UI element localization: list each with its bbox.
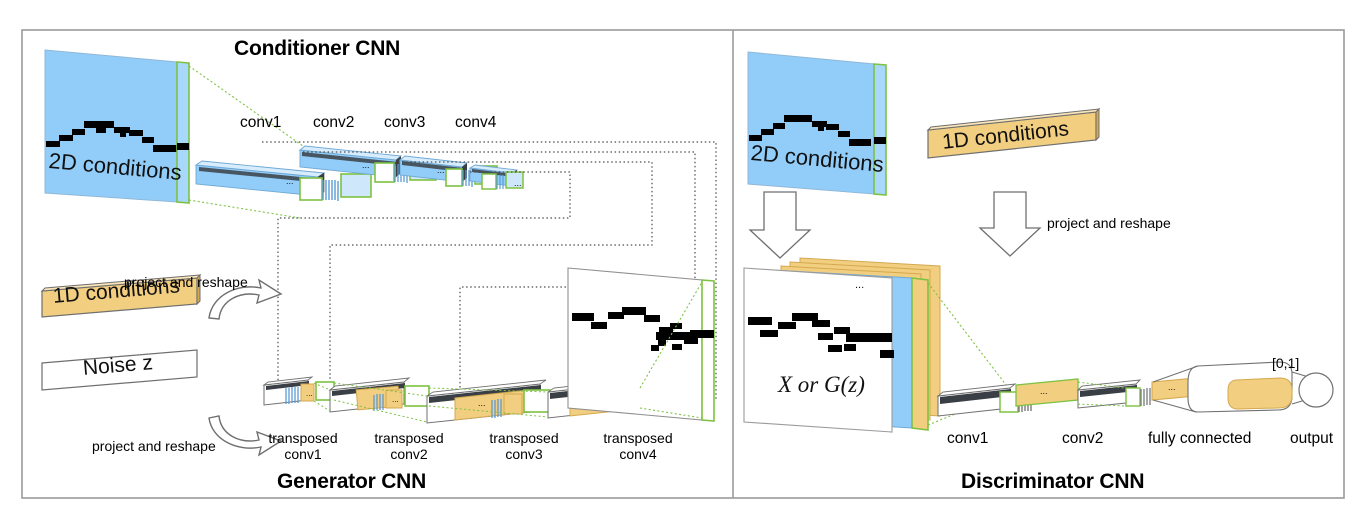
conditioner-label-conv4: conv4 [455, 114, 496, 132]
discriminator-label-conv1: conv1 [947, 430, 988, 448]
generator-label-tconv4: transposed conv4 [601, 430, 675, 462]
tconv3-line2: conv3 [505, 446, 542, 462]
discriminator-output-node [1299, 373, 1333, 407]
conditioner-label-conv1: conv1 [240, 114, 281, 132]
discriminator-sample-label: X or G(z) [778, 372, 865, 398]
conditioner-label-conv3: conv3 [384, 114, 425, 132]
discriminator-title: Discriminator CNN [961, 470, 1144, 494]
project-reshape-arrows [209, 280, 281, 455]
generator-tconv2-block: ... [330, 378, 429, 412]
discriminator-arrows [750, 192, 1040, 258]
discriminator-output-range: [0,1] [1272, 355, 1299, 371]
discriminator-label-fully-connected: fully connected [1148, 430, 1251, 448]
svg-text:...: ... [855, 279, 864, 291]
conditioner-label-conv2: conv2 [313, 114, 354, 132]
tconv2-line1: transposed [374, 430, 443, 446]
discriminator-conv1-block: ... [938, 379, 1078, 416]
svg-text:...: ... [1168, 382, 1176, 392]
svg-text:...: ... [437, 165, 445, 175]
tconv4-line2: conv4 [619, 446, 656, 462]
discriminator-label-conv2: conv2 [1062, 430, 1103, 448]
conditioner-title: Conditioner CNN [234, 37, 400, 61]
svg-text:...: ... [306, 389, 313, 398]
generator-label-tconv1: transposed conv1 [266, 430, 340, 462]
figure-canvas: ... ... [0, 0, 1366, 528]
generator-title: Generator CNN [277, 470, 426, 494]
discriminator-stacked-input: ... [744, 258, 940, 432]
tconv1-line2: conv1 [284, 446, 321, 462]
generator-project-top-label: project and reshape [124, 274, 248, 290]
generator-label-tconv2: transposed conv2 [372, 430, 446, 462]
generator-label-tconv3: transposed conv3 [487, 430, 561, 462]
svg-text:...: ... [514, 178, 522, 188]
tconv1-line1: transposed [268, 430, 337, 446]
arrow-down-2d [750, 192, 810, 258]
svg-text:...: ... [286, 176, 294, 186]
generator-output-plane [568, 268, 714, 421]
generator-tconv1-block: ... [264, 377, 334, 405]
tconv2-line2: conv2 [390, 446, 427, 462]
svg-text:...: ... [1040, 386, 1048, 396]
arrow-down-1d [980, 192, 1040, 256]
generator-project-bottom-label: project and reshape [92, 438, 216, 454]
svg-text:...: ... [362, 160, 370, 170]
tconv4-line1: transposed [603, 430, 672, 446]
svg-text:...: ... [478, 398, 486, 408]
generator-tconv3-block: ... [427, 380, 550, 423]
discriminator-conv2-block: ... [1078, 378, 1196, 408]
discriminator-project-label: project and reshape [1047, 215, 1171, 231]
svg-text:...: ... [392, 395, 399, 404]
tconv3-line1: transposed [489, 430, 558, 446]
conditioner-conv1-kernel [300, 174, 371, 201]
discriminator-label-output: output [1290, 430, 1333, 448]
